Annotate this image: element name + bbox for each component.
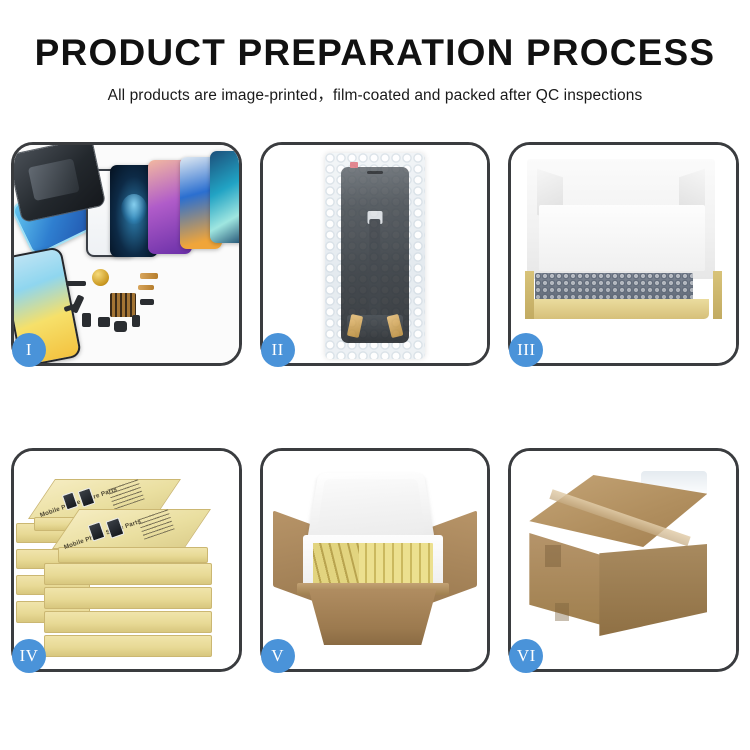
lcd-notch: [367, 171, 383, 174]
flex-cable-component-2: [138, 285, 154, 290]
stack-box-fr-2: [44, 587, 212, 609]
step-badge-4: IV: [12, 639, 46, 673]
sim-tray-component: [132, 315, 140, 327]
gold-tray-front: [525, 299, 709, 319]
red-sticker: [350, 162, 358, 168]
open-box-scene: [511, 145, 736, 363]
gold-tray-edge-left: [525, 271, 534, 319]
process-step-6[interactable]: VI: [508, 448, 739, 672]
step-badge-2: II: [261, 333, 295, 367]
speaker-component: [92, 269, 109, 286]
page-title: PRODUCT PREPARATION PROCESS: [0, 34, 750, 73]
antenna-component: [66, 281, 86, 286]
process-step-1[interactable]: I: [11, 142, 242, 366]
stack-box-fr-3: [44, 611, 212, 633]
carton-body: [309, 589, 437, 645]
carton-styrofoam-scene: [263, 451, 488, 669]
step-4-image: Mobile Phone Spare Parts Mobile Phone Sp…: [14, 451, 239, 669]
white-foam-sheet: [539, 205, 705, 271]
step-badge-1: I: [12, 333, 46, 367]
step-2-image: [263, 145, 488, 363]
page-subtitle: All products are image-printed，film-coat…: [0, 83, 750, 105]
phones-scene: [14, 145, 239, 363]
carton-handle-tab-lower: [555, 603, 569, 621]
sealed-carton-scene: [511, 451, 736, 669]
process-step-2[interactable]: II: [260, 142, 491, 366]
step-3-image: [511, 145, 736, 363]
carton-handle-tab-upper: [545, 545, 561, 567]
phone-teal: [210, 151, 239, 243]
product-preparation-page: PRODUCT PREPARATION PROCESS All products…: [0, 0, 750, 750]
packed-gold-boxes-angled: [313, 543, 359, 585]
styrofoam-lid: [306, 473, 435, 544]
connector-component: [140, 299, 154, 305]
logic-board-component: [110, 293, 136, 317]
step-6-image: [511, 451, 736, 669]
camera-component: [82, 313, 91, 327]
process-step-5[interactable]: V: [260, 448, 491, 672]
stack-box-fr-4: [44, 635, 212, 657]
stack-box-side-2: [58, 547, 208, 563]
vibrator-component: [114, 321, 127, 332]
step-1-image: [14, 145, 239, 363]
process-step-grid: I: [11, 142, 739, 672]
step-5-image: [263, 451, 488, 669]
page-header: PRODUCT PREPARATION PROCESS All products…: [0, 0, 750, 105]
step-badge-5: V: [261, 639, 295, 673]
process-step-4[interactable]: Mobile Phone Spare Parts Mobile Phone Sp…: [11, 448, 242, 672]
flex-cable-component: [140, 273, 158, 279]
bubble-wrap-scene: [263, 145, 488, 363]
button-component: [98, 317, 110, 327]
gold-tray-edge-right: [713, 271, 722, 319]
stacked-boxes-scene: Mobile Phone Spare Parts Mobile Phone Sp…: [14, 451, 239, 669]
carton-right-face: [599, 544, 707, 636]
process-step-3[interactable]: III: [508, 142, 739, 366]
bubble-wrap-bag: [325, 153, 425, 359]
stack-box-fr-1: [44, 563, 212, 585]
lcd-assembly: [341, 167, 409, 343]
